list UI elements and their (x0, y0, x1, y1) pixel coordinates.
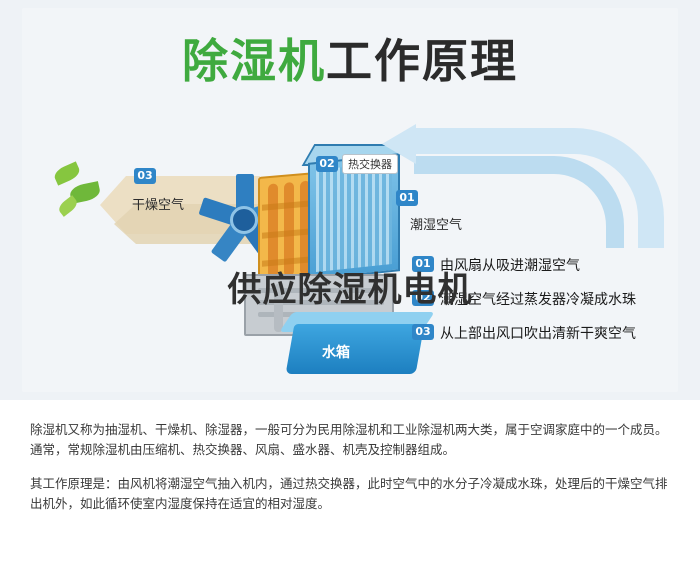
badge-03-legend: 03 (412, 324, 434, 340)
description-paragraph-1: 除湿机又称为抽湿机、干燥机、除湿器，一般可分为民用除湿机和工业除湿机两大类，属于… (30, 420, 670, 460)
leaf-icon (52, 161, 82, 185)
humid-air-swoosh-secondary-icon (414, 156, 624, 248)
page-root: 除湿机工作原理 干燥空气 03 (0, 0, 700, 566)
humid-air-label: 潮湿空气 (410, 214, 462, 233)
diagram-panel: 除湿机工作原理 干燥空气 03 (0, 0, 700, 400)
page-title: 除湿机工作原理 (22, 38, 678, 84)
description-section: 除湿机又称为抽湿机、干燥机、除湿器，一般可分为民用除湿机和工业除湿机两大类，属于… (0, 402, 700, 566)
fan-hub (230, 206, 258, 234)
description-paragraph-2: 其工作原理是：由风机将潮湿空气抽入机内，通过热交换器，此时空气中的水分子冷凝成水… (30, 474, 670, 514)
title-green-part: 除湿机 (182, 34, 326, 88)
badge-02-diagram: 02 (316, 156, 338, 172)
legend-item-3: 从上部出风口吹出清新干爽空气 (440, 323, 636, 343)
diagram-canvas: 除湿机工作原理 干燥空气 03 (22, 8, 678, 392)
water-tank-icon (286, 324, 425, 374)
water-tank-label: 水箱 (322, 342, 350, 362)
dry-air-label: 干燥空气 (132, 194, 184, 213)
title-dark-part: 工作原理 (326, 34, 518, 88)
heat-exchanger-fins (316, 162, 392, 272)
badge-03-diagram: 03 (134, 168, 156, 184)
badge-01-diagram: 01 (396, 190, 418, 206)
watermark-overlay-text: 供应除湿机电机 (0, 262, 700, 311)
humid-air-arrow-head-icon (382, 124, 416, 164)
